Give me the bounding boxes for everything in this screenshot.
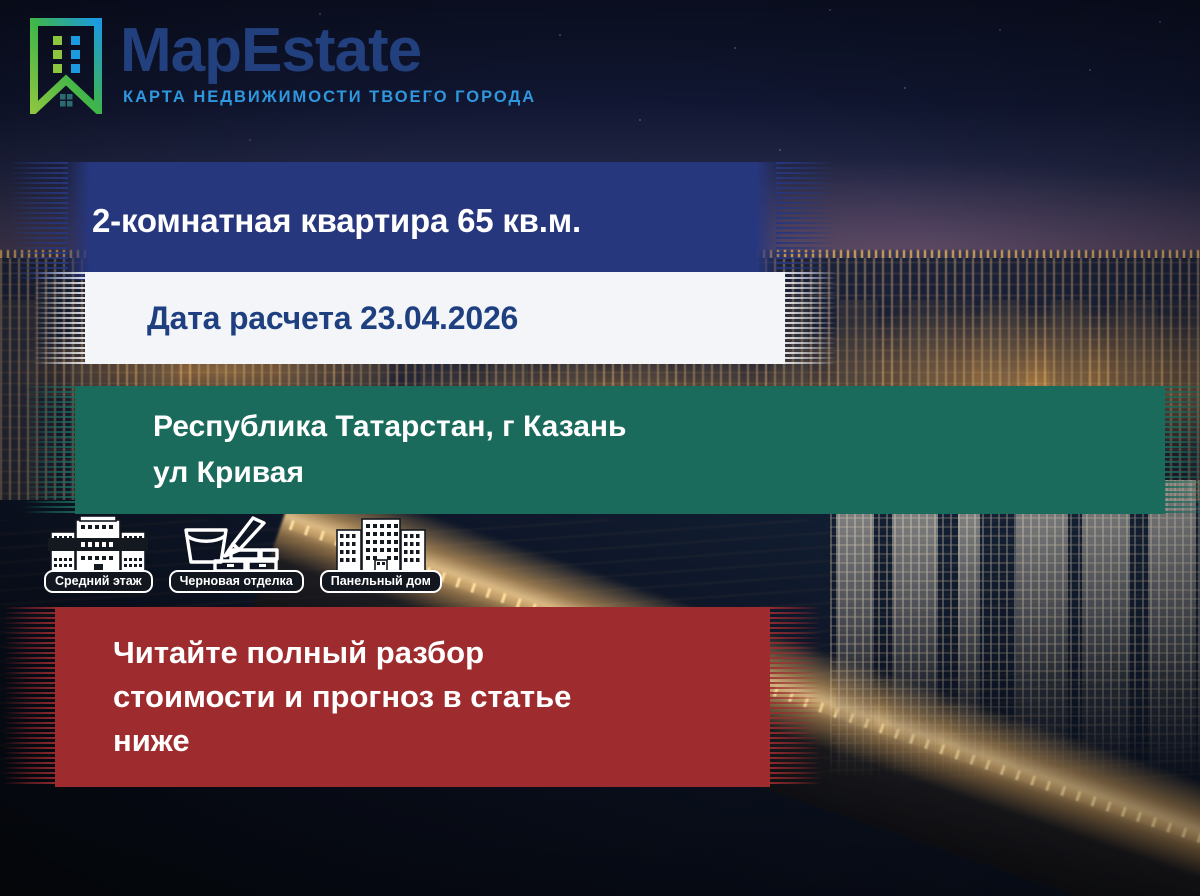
panel-house-icon xyxy=(335,516,427,574)
logo[interactable]: MapEstate КАРТА НЕДВИЖИМОСТИ ТВОЕГО ГОРО… xyxy=(30,18,536,114)
calculation-date: Дата расчета 23.04.2026 xyxy=(85,300,785,337)
address-line-2: ул Кривая xyxy=(75,450,1165,497)
white-band-right-edge xyxy=(777,272,837,364)
bookmark-building-icon xyxy=(30,18,102,114)
badge-mid-floor: Средний этаж xyxy=(44,516,153,593)
cta-line-3: ниже xyxy=(55,719,770,763)
property-promo-poster: MapEstate КАРТА НЕДВИЖИМОСТИ ТВОЕГО ГОРО… xyxy=(0,0,1200,896)
property-title: 2-комнатная квартира 65 кв.м. xyxy=(60,202,784,240)
badge-label: Панельный дом xyxy=(320,570,442,593)
cta-line-2: стоимости и прогноз в статье xyxy=(55,675,770,719)
address-band: Республика Татарстан, г Казань ул Кривая xyxy=(75,386,1165,514)
calculation-date-band: Дата расчета 23.04.2026 xyxy=(85,272,785,364)
brand-name: MapEstate xyxy=(120,20,536,82)
red-band-left-edge xyxy=(3,607,63,787)
green-band-left-edge xyxy=(23,386,83,514)
feature-badges: Средний этаж xyxy=(44,516,442,593)
badge-label: Черновая отделка xyxy=(169,570,304,593)
logo-text: MapEstate КАРТА НЕДВИЖИМОСТИ ТВОЕГО ГОРО… xyxy=(120,18,536,107)
white-band-left-edge xyxy=(33,272,93,364)
badge-label: Средний этаж xyxy=(44,570,153,593)
badge-panel-house: Панельный дом xyxy=(320,516,442,593)
brand-tagline: КАРТА НЕДВИЖИМОСТИ ТВОЕГО ГОРОДА xyxy=(123,88,536,107)
blue-band-left-edge xyxy=(8,162,68,280)
property-title-band: 2-комнатная квартира 65 кв.м. xyxy=(60,162,784,280)
brand-header: MapEstate КАРТА НЕДВИЖИМОСТИ ТВОЕГО ГОРО… xyxy=(0,0,1200,150)
mid-floor-building-icon xyxy=(48,516,148,574)
red-band-right-edge xyxy=(762,607,822,787)
address-line-1: Республика Татарстан, г Казань xyxy=(75,404,1165,451)
blue-band-right-edge xyxy=(776,162,836,280)
cta-line-1: Читайте полный разбор xyxy=(55,631,770,675)
cta-band[interactable]: Читайте полный разбор стоимости и прогно… xyxy=(55,607,770,787)
paint-bucket-trowel-icon xyxy=(181,516,291,574)
badge-finishing: Черновая отделка xyxy=(169,516,304,593)
